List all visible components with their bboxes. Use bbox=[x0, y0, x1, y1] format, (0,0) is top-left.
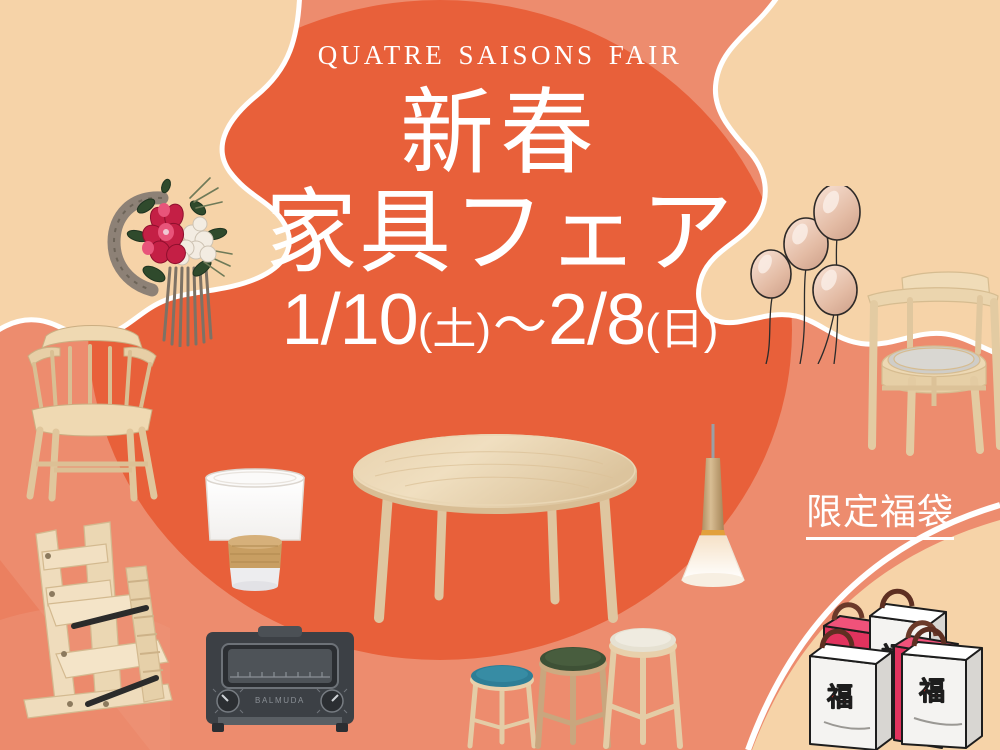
svg-text:BALMUDA: BALMUDA bbox=[255, 696, 305, 705]
table-lamp-icon bbox=[196, 462, 314, 592]
windsor-armchair-icon bbox=[12, 312, 172, 502]
lucky-bag-character-2: 福 bbox=[827, 683, 853, 713]
lucky-bag-white-right: 福 bbox=[902, 629, 982, 748]
stool-cream-icon bbox=[600, 618, 686, 750]
limited-lucky-bag-label: 限定福袋 bbox=[806, 492, 954, 540]
toaster-oven-icon: BALMUDA bbox=[200, 624, 360, 742]
pendant-lamp-icon bbox=[668, 424, 758, 594]
lucky-bags-icon: 福 福 bbox=[790, 578, 990, 750]
round-dining-table-icon bbox=[345, 428, 645, 628]
high-chair-icon bbox=[18, 508, 183, 743]
balloons-icon bbox=[742, 186, 882, 364]
lucky-bag-character-3: 福 bbox=[919, 677, 945, 707]
promotional-banner: Quatre Saisons Fair 新春 家具フェア 1/10(土)～2/8… bbox=[0, 0, 1000, 750]
